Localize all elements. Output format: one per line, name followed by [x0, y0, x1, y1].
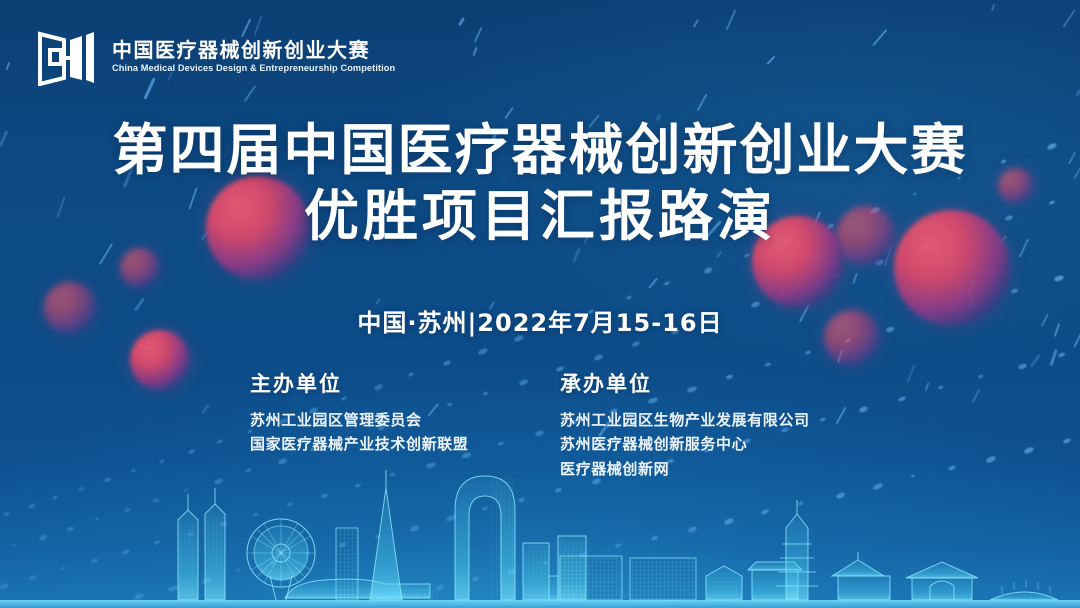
- arc-dot: [269, 560, 277, 566]
- dash-streak: [473, 47, 478, 56]
- arc-dot: [286, 503, 292, 508]
- arc-dot: [761, 509, 770, 516]
- arc-dot: [1053, 275, 1064, 283]
- arc-dot: [60, 566, 67, 571]
- arc-dot: [66, 525, 74, 531]
- arc-dot: [219, 521, 227, 527]
- arc-dot: [724, 517, 735, 526]
- arc-dot: [436, 584, 445, 592]
- arc-dot: [134, 593, 145, 601]
- dash-streak: [693, 19, 699, 27]
- arc-dot: [805, 351, 812, 356]
- arc-dot: [687, 526, 697, 534]
- arc-dot: [477, 347, 488, 356]
- dash-streak: [725, 10, 736, 31]
- arc-dot: [253, 512, 259, 516]
- arc-dot: [1011, 288, 1019, 294]
- logo-wordmark: 中国医疗器械创新创业大赛 China Medical Devices Desig…: [112, 40, 404, 74]
- competition-logo: 中国医疗器械创新创业大赛 China Medical Devices Desig…: [36, 28, 404, 86]
- arc-dot: [12, 543, 18, 548]
- dash-streak: [1029, 354, 1040, 367]
- arc-dot: [632, 341, 641, 348]
- organizer-group-host: 主办单位 苏州工业园区管理委员会 国家医疗器械产业技术创新联盟: [250, 368, 470, 481]
- organizer-item: 苏州工业园区管理委员会: [250, 408, 470, 432]
- arc-dot: [401, 592, 407, 597]
- arc-dot: [845, 338, 852, 343]
- dash-streak: [837, 350, 843, 363]
- arc-dot: [183, 489, 188, 493]
- dash-streak: [1062, 10, 1076, 29]
- arc-dot: [872, 482, 883, 491]
- arc-dot: [471, 576, 479, 583]
- arc-dot: [201, 576, 212, 584]
- dash-streak: [716, 251, 722, 258]
- dash-streak: [852, 273, 858, 284]
- arc-dot: [27, 503, 36, 511]
- arc-dot: [1058, 352, 1066, 358]
- arc-dot: [506, 567, 517, 576]
- arc-dot: [78, 486, 86, 492]
- logo-chinese-name: 中国医疗器械创新创业大赛: [112, 40, 404, 61]
- arc-dot: [744, 252, 751, 258]
- title-line-1: 第四届中国医疗器械创新创业大赛: [0, 120, 1080, 182]
- arc-dot: [3, 511, 11, 518]
- arc-dot: [791, 287, 798, 292]
- arc-dot: [835, 491, 846, 500]
- decorative-sphere: [120, 248, 160, 288]
- dash-streak: [872, 29, 887, 46]
- arc-dot: [593, 353, 603, 361]
- arc-dot: [625, 295, 632, 301]
- dash-streak: [697, 94, 708, 112]
- arc-dot: [167, 584, 178, 593]
- title-line-2: 优胜项目汇报路演: [0, 182, 1080, 251]
- event-dateline: 中国·苏州|2022年7月15-16日: [0, 303, 1080, 338]
- dash-streak: [5, 62, 10, 70]
- arc-dot: [39, 534, 49, 541]
- arc-dot: [235, 569, 240, 573]
- arc-dot: [578, 551, 587, 558]
- dash-streak: [967, 280, 976, 294]
- arc-dot: [320, 493, 327, 499]
- dash-streak: [939, 259, 945, 265]
- arc-dot: [798, 501, 804, 505]
- arc-dot: [29, 575, 37, 581]
- arc-dot: [554, 487, 562, 493]
- arc-dot: [409, 524, 420, 532]
- arc-dot: [543, 560, 549, 565]
- arc-dot: [703, 266, 713, 274]
- arc-dot: [52, 495, 58, 500]
- arc-dot: [154, 540, 160, 545]
- arc-dot: [366, 600, 373, 605]
- dash-streak: [1049, 349, 1057, 366]
- organizer-section: 主办单位 苏州工业园区管理委员会 国家医疗器械产业技术创新联盟 承办单位 苏州工…: [0, 368, 1080, 481]
- dash-streak: [767, 55, 776, 64]
- arc-dot: [0, 583, 9, 591]
- arc-dot: [518, 497, 526, 503]
- page-title: 第四届中国医疗器械创新创业大赛 优胜项目汇报路演: [0, 120, 1080, 250]
- arc-dot: [765, 362, 772, 367]
- arc-dot: [615, 543, 622, 548]
- event-poster: 中国医疗器械创新创业大赛 China Medical Devices Desig…: [0, 0, 1080, 608]
- arc-dot: [445, 515, 456, 523]
- dash-streak: [994, 285, 1002, 294]
- dash-streak: [1075, 87, 1080, 97]
- arc-dot: [122, 549, 131, 556]
- arc-dot: [374, 534, 381, 539]
- logo-english-name: China Medical Devices Design & Entrepren…: [112, 64, 395, 74]
- organizer-item: 医疗器械创新网: [560, 457, 830, 481]
- arc-dot: [186, 531, 194, 537]
- arc-dot: [95, 517, 100, 521]
- arc-dot: [664, 281, 671, 286]
- arc-dot: [304, 551, 311, 556]
- arc-dot: [651, 535, 659, 542]
- dash-streak: [648, 278, 658, 289]
- arc-dot: [123, 507, 131, 513]
- arc-dot: [874, 259, 884, 267]
- organizer-item: 苏州医疗器械创新服务中心: [560, 432, 830, 456]
- arc-dot: [442, 360, 451, 368]
- skyline-ground-line: [0, 600, 1080, 608]
- arc-dot: [355, 483, 362, 488]
- dash-streak: [780, 290, 784, 297]
- arc-dot: [832, 273, 839, 279]
- dash-streak: [991, 4, 996, 12]
- dash-streak: [474, 27, 483, 43]
- arc-dot: [153, 498, 160, 503]
- arc-dot: [101, 601, 107, 605]
- open-door-window-icon: [36, 28, 98, 86]
- organizer-item: 苏州工业园区生物产业发展有限公司: [560, 408, 830, 432]
- dash-streak: [244, 85, 256, 101]
- organizer-item: 国家医疗器械产业技术创新联盟: [250, 432, 470, 456]
- organizer-group-title: 主办单位: [250, 368, 470, 398]
- organizer-group-title: 承办单位: [560, 368, 830, 398]
- arc-dot: [481, 506, 488, 511]
- arc-dot: [91, 558, 99, 564]
- dash-streak: [458, 17, 465, 26]
- arc-dot: [339, 542, 346, 548]
- organizer-group-coorganizer: 承办单位 苏州工业园区生物产业发展有限公司 苏州医疗器械创新服务中心 医疗器械创…: [560, 368, 830, 481]
